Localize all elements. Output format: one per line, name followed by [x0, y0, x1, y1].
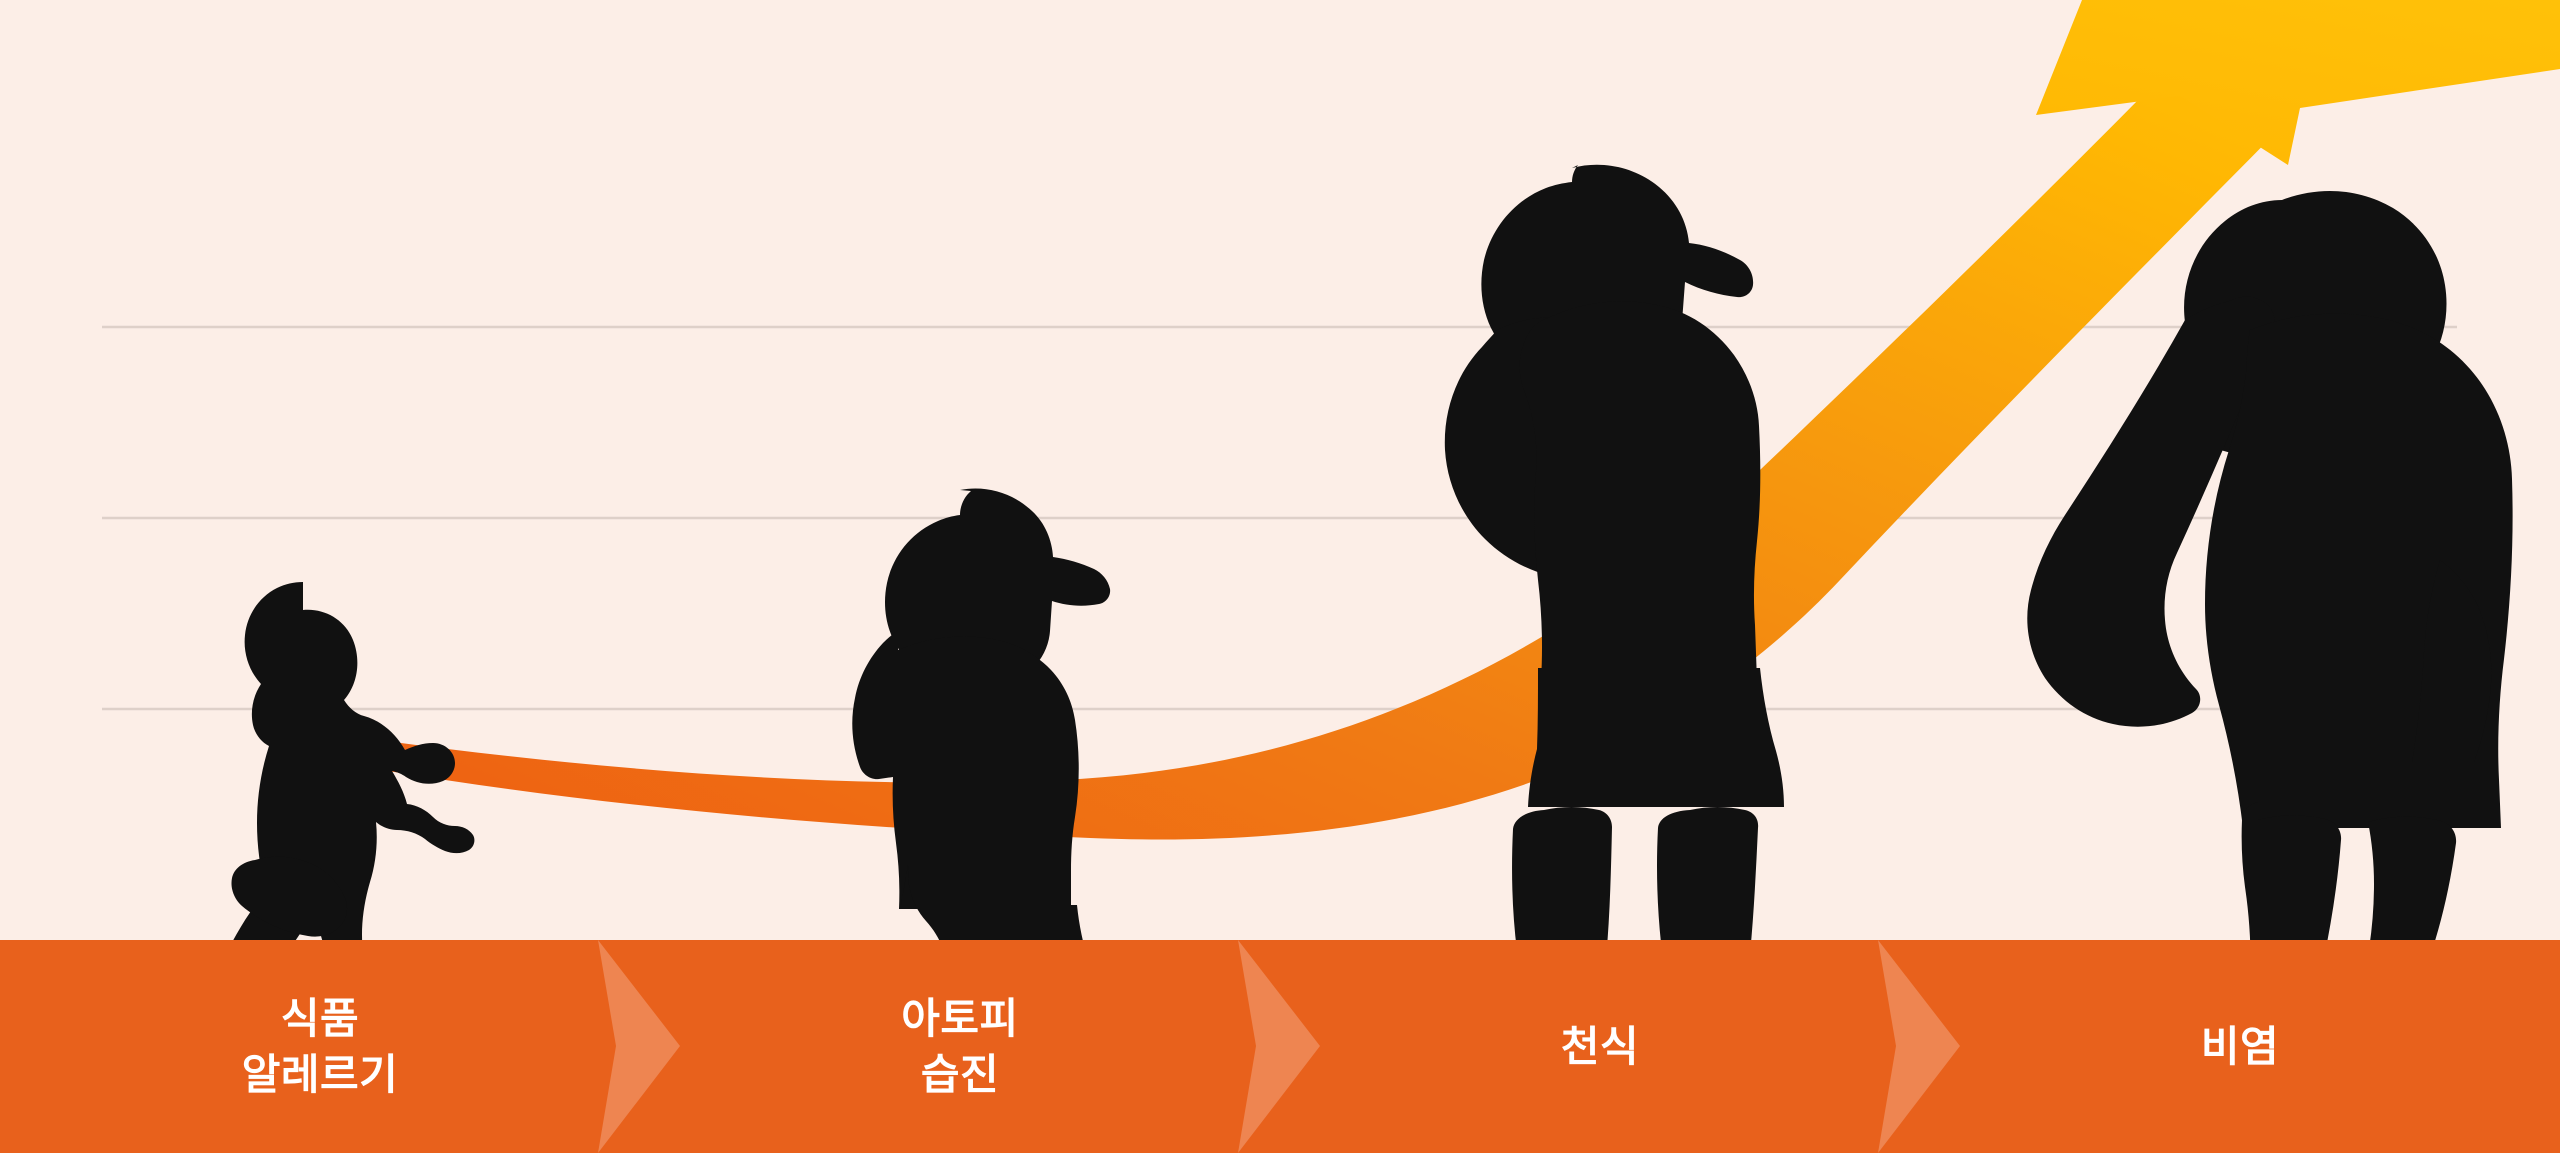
stage-label-bar: 식품 알레르기 아토피 습진 천식 비염 [0, 940, 2560, 1153]
stage-label-rhinitis: 비염 [2201, 1019, 2279, 1074]
allergic-march-infographic: 식품 알레르기 아토피 습진 천식 비염 [0, 0, 2560, 1153]
stage-cell-atopic-eczema[interactable]: 아토피 습진 [640, 940, 1280, 1153]
stage-label-atopic-eczema-line1: 아토피 [901, 991, 1018, 1046]
stage-label-atopic-eczema-line2: 습진 [921, 1047, 999, 1102]
stage-cell-rhinitis[interactable]: 비염 [1920, 940, 2560, 1153]
stage-label-food-allergy-line1: 식품 [281, 991, 359, 1046]
stage-cell-asthma[interactable]: 천식 [1280, 940, 1920, 1153]
stage-label-asthma: 천식 [1561, 1019, 1639, 1074]
stage-label-food-allergy-line2: 알레르기 [242, 1047, 399, 1102]
stage-cell-food-allergy[interactable]: 식품 알레르기 [0, 940, 640, 1153]
